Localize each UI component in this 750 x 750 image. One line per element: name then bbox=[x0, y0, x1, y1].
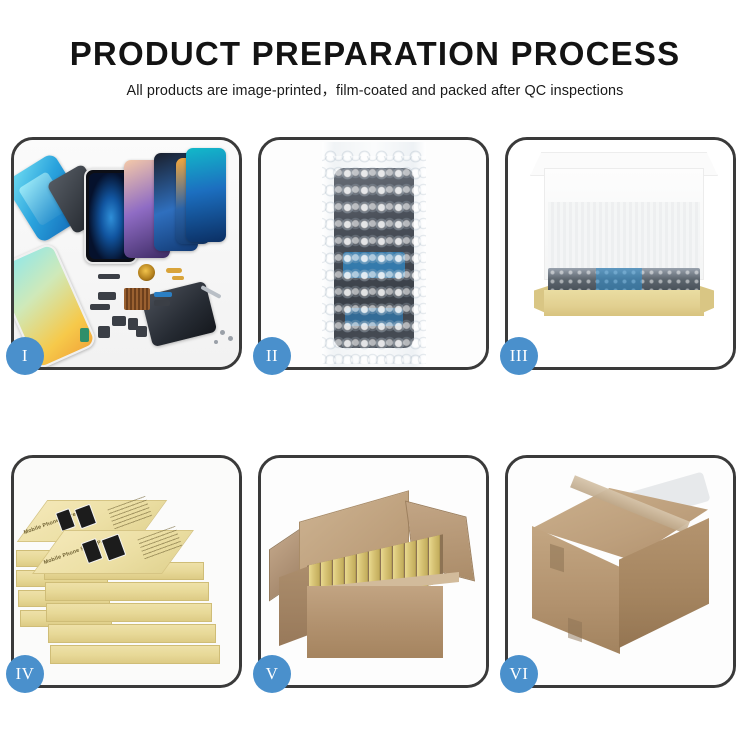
part-vibrator bbox=[112, 316, 126, 326]
step-2-image bbox=[261, 140, 486, 367]
part-earpiece bbox=[136, 326, 147, 337]
part-screw-c bbox=[214, 340, 218, 344]
step-6-image bbox=[508, 458, 733, 685]
process-step-4: Mobile Phone Spare Parts Mobile Phone Sp… bbox=[11, 455, 242, 688]
process-step-1: I bbox=[11, 137, 242, 370]
part-screw-a bbox=[220, 330, 225, 335]
step-3-image bbox=[508, 140, 733, 367]
step-badge-1: I bbox=[6, 337, 44, 375]
stacked-box-r5 bbox=[50, 645, 220, 664]
mailer-box-front-panel bbox=[544, 290, 704, 316]
step-badge-5: V bbox=[253, 655, 291, 693]
part-blue-ribbon bbox=[154, 292, 172, 297]
step-4-image: Mobile Phone Spare Parts Mobile Phone Sp… bbox=[14, 458, 239, 685]
bubble-texture-back bbox=[322, 156, 426, 364]
process-step-3: III bbox=[505, 137, 736, 370]
step-badge-3: III bbox=[500, 337, 538, 375]
foam-liner bbox=[548, 202, 700, 272]
part-camera-module bbox=[138, 264, 155, 281]
phone-teal-display bbox=[186, 148, 226, 242]
step-1-image bbox=[14, 140, 239, 367]
step-5-image bbox=[261, 458, 486, 685]
part-sim-tray bbox=[80, 328, 89, 342]
process-step-grid: I II III bbox=[11, 137, 739, 688]
page-subtitle: All products are image-printed，film-coat… bbox=[0, 81, 750, 101]
part-gold-bracket bbox=[172, 276, 184, 280]
stacked-box-r2 bbox=[45, 582, 209, 601]
step-badge-6: VI bbox=[500, 655, 538, 693]
stacked-box-r3 bbox=[46, 603, 212, 622]
box-stack: Mobile Phone Spare Parts Mobile Phone Sp… bbox=[14, 458, 239, 685]
process-step-6: VI bbox=[505, 455, 736, 688]
carton-seam-lower bbox=[568, 618, 582, 643]
step-badge-4: IV bbox=[6, 655, 44, 693]
step-badge-2: II bbox=[253, 337, 291, 375]
carton-left-side bbox=[279, 566, 309, 646]
stacked-box-r4 bbox=[48, 624, 216, 643]
product-preparation-page: PRODUCT PREPARATION PROCESS All products… bbox=[0, 0, 750, 750]
part-connector bbox=[154, 300, 170, 306]
part-mesh-pad bbox=[124, 288, 150, 310]
part-flex-cable-b bbox=[90, 304, 110, 310]
part-speaker-grill bbox=[98, 274, 120, 279]
carton-seam-upper bbox=[550, 544, 564, 573]
part-flex-cable-a bbox=[98, 292, 116, 300]
page-header: PRODUCT PREPARATION PROCESS All products… bbox=[0, 0, 750, 101]
mailer-box-right-edge bbox=[700, 286, 714, 314]
part-screw-b bbox=[228, 336, 233, 341]
part-gold-flex bbox=[166, 268, 182, 273]
carton-front-panel bbox=[307, 586, 443, 658]
page-title: PRODUCT PREPARATION PROCESS bbox=[0, 34, 750, 74]
process-step-2: II bbox=[258, 137, 489, 370]
process-step-5: V bbox=[258, 455, 489, 688]
part-speaker-box bbox=[98, 326, 110, 338]
